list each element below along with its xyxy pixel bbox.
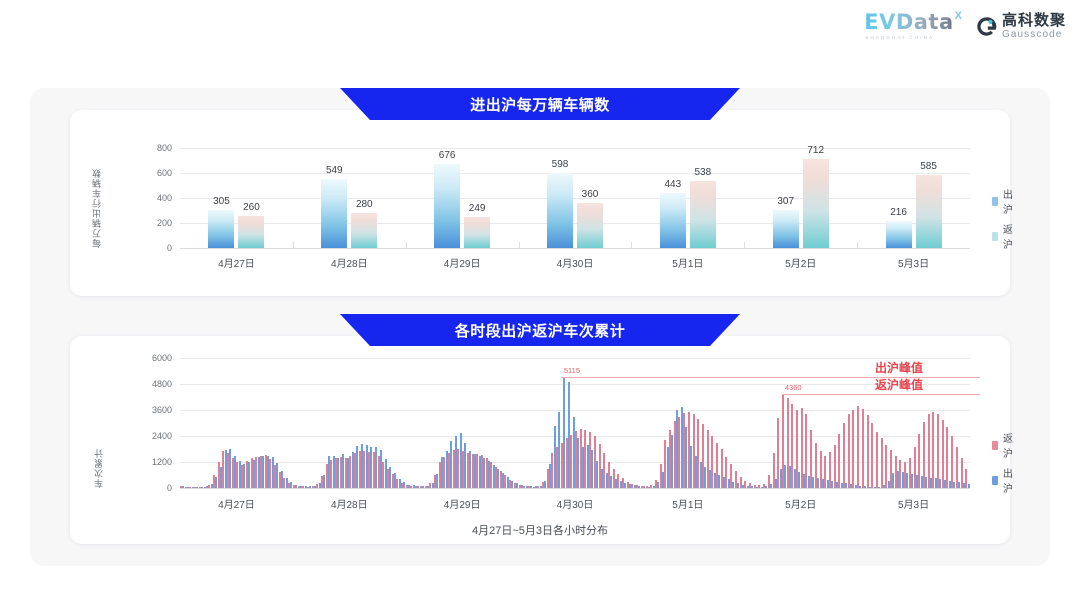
chart2-legend-item[interactable]: 返沪 — [992, 430, 1016, 460]
evdata-logo: EVData X SHANGHAI CHINA — [864, 12, 962, 40]
chart2-y-tick: 2400 — [136, 431, 172, 441]
chart2-peak-label: 出沪峰值 — [875, 359, 923, 376]
chart1-legend-item[interactable]: 出沪 — [992, 186, 1016, 216]
chart2-y-tick: 3600 — [136, 405, 172, 415]
chart1-y-tick: 600 — [138, 168, 172, 178]
dashboard-shell: 进出沪每万辆车辆数 每万辆出行车辆数 出沪返沪 0200400600800305… — [30, 88, 1050, 566]
chart1-y-tick: 0 — [138, 243, 172, 253]
chart1-legend-label: 出沪 — [1003, 186, 1016, 216]
chart2-gridline — [180, 488, 970, 489]
chart1-bar[interactable] — [238, 216, 264, 249]
chart2-bar-return[interactable] — [843, 423, 845, 488]
chart1-x-tick: 5月1日 — [648, 255, 728, 270]
chart2-bar-out[interactable] — [968, 484, 970, 488]
chart2-x-tick: 4月27日 — [196, 496, 276, 511]
chart1-bar-value: 676 — [425, 150, 469, 161]
chart2-x-tick: 5月2日 — [761, 496, 841, 511]
chart2-x-tick: 5月3日 — [874, 496, 954, 511]
chart1-x-tick: 4月27日 — [196, 255, 276, 270]
chart1-x-tick: 4月30日 — [535, 255, 615, 270]
chart1-bar[interactable] — [208, 210, 234, 248]
chart2-bar-return[interactable] — [876, 432, 878, 488]
chart1-bar[interactable] — [577, 203, 603, 248]
panel-2-title-banner: 各时段出沪返沪车次累计 — [340, 314, 740, 346]
chart2-legend-item[interactable]: 出沪 — [992, 465, 1016, 495]
chart2-bar-return[interactable] — [942, 420, 944, 488]
chart1-gridline — [180, 223, 970, 224]
chart2-legend-label: 返沪 — [1003, 430, 1016, 460]
gausscode-logo-en: Gausscode — [1002, 30, 1066, 40]
chart1-bar-value: 538 — [681, 167, 725, 178]
chart1-bar[interactable] — [321, 179, 347, 248]
chart1-bar-value: 307 — [764, 196, 808, 207]
chart2-bar-return[interactable] — [838, 434, 840, 488]
chart1-bar-value: 280 — [342, 199, 386, 210]
chart2-x-tick: 5月1日 — [648, 496, 728, 511]
chart2-legend: 返沪出沪 — [992, 430, 1016, 500]
chart2-bar-return[interactable] — [852, 410, 854, 488]
chart1-bar[interactable] — [660, 193, 686, 248]
chart1-bar[interactable] — [886, 221, 912, 248]
chart1-bar-value: 249 — [455, 203, 499, 214]
chart2-gridline — [180, 358, 970, 359]
chart1-bar[interactable] — [547, 173, 573, 248]
gausscode-mark-icon — [976, 16, 997, 37]
chart1-x-tick: 4月28日 — [309, 255, 389, 270]
chart2-bar-return[interactable] — [937, 414, 939, 488]
logo-group: EVData X SHANGHAI CHINA 高科数聚 Gausscode — [864, 12, 1066, 40]
chart2-bar-return[interactable] — [871, 423, 873, 488]
chart2-y-axis-label: 车次累计 — [92, 358, 105, 488]
chart1-category-tick — [519, 242, 520, 248]
chart1-y-axis-label: 每万辆出行车辆数 — [90, 152, 103, 248]
chart2-bar-return[interactable] — [867, 415, 869, 488]
evdata-x-icon: X — [955, 10, 962, 22]
chart1-y-tick: 400 — [138, 193, 172, 203]
chart1-bar-value: 598 — [538, 159, 582, 170]
chart1-gridline — [180, 148, 970, 149]
chart2-bar-return[interactable] — [946, 427, 948, 488]
panel-daily-vehicles: 每万辆出行车辆数 出沪返沪 02004006008003052604月27日54… — [70, 110, 1010, 296]
chart2-peak-line — [782, 394, 980, 395]
chart1-category-tick — [293, 242, 294, 248]
chart2-y-tick: 4800 — [136, 379, 172, 389]
chart2-gridline — [180, 384, 970, 385]
chart1-bar[interactable] — [464, 217, 490, 248]
chart2-x-tick: 4月28日 — [309, 496, 389, 511]
page-header: EVData X SHANGHAI CHINA 高科数聚 Gausscode — [0, 0, 1080, 62]
chart2-bar-return[interactable] — [932, 412, 934, 488]
chart1-gridline — [180, 248, 970, 249]
chart2-y-tick: 1200 — [136, 457, 172, 467]
chart1-category-tick — [631, 242, 632, 248]
evdata-logo-subtitle: SHANGHAI CHINA — [865, 35, 934, 40]
chart1-legend-swatch — [992, 197, 998, 206]
chart1-bar[interactable] — [690, 181, 716, 248]
chart2-legend-label: 出沪 — [1003, 465, 1016, 495]
chart1-x-tick: 4月29日 — [422, 255, 502, 270]
chart1-y-tick: 200 — [138, 218, 172, 228]
chart1-gridline — [180, 173, 970, 174]
chart1-legend-label: 返沪 — [1003, 221, 1016, 251]
chart1-category-tick — [857, 242, 858, 248]
chart1-bar-value: 360 — [568, 189, 612, 200]
chart2-bar-return[interactable] — [951, 436, 953, 488]
chart2-x-tick: 4月30日 — [535, 496, 615, 511]
chart1-bar-value: 549 — [312, 165, 356, 176]
gausscode-logo: 高科数聚 Gausscode — [976, 13, 1066, 40]
chart1-bar[interactable] — [351, 213, 377, 248]
chart1-bar-value: 585 — [907, 161, 951, 172]
chart1-bar[interactable] — [773, 210, 799, 248]
chart1-legend-item[interactable]: 返沪 — [992, 221, 1016, 251]
panel-1-title-banner: 进出沪每万辆车辆数 — [340, 88, 740, 120]
chart2-y-tick: 0 — [136, 483, 172, 493]
chart1-x-tick: 5月3日 — [874, 255, 954, 270]
chart1-y-tick: 800 — [138, 143, 172, 153]
chart1-legend-swatch — [992, 232, 998, 241]
chart2-peak-value: 5115 — [564, 366, 580, 375]
chart2-bar-return[interactable] — [862, 409, 864, 488]
chart1-legend: 出沪返沪 — [992, 186, 1016, 256]
chart1-x-tick: 5月2日 — [761, 255, 841, 270]
evdata-logo-text: EVData — [864, 12, 953, 33]
gausscode-logo-cn: 高科数聚 — [1002, 13, 1066, 28]
chart2-legend-swatch — [992, 441, 998, 450]
chart2-bar-return[interactable] — [848, 414, 850, 488]
chart1-bar-value: 712 — [794, 145, 838, 156]
chart2-bar-return[interactable] — [881, 438, 883, 488]
chart2-y-tick: 6000 — [136, 353, 172, 363]
chart1-bar-value: 443 — [651, 179, 695, 190]
chart2-x-tick: 4月29日 — [422, 496, 502, 511]
chart1-category-tick — [744, 242, 745, 248]
panel-hourly-trips: 车次累计 返沪出沪 4月27日~5月3日各小时分布 01200240036004… — [70, 336, 1010, 544]
chart2-subtitle: 4月27日~5月3日各小时分布 — [70, 522, 1010, 538]
chart1-bar-value: 216 — [877, 207, 921, 218]
chart2-legend-swatch — [992, 476, 998, 485]
chart2-peak-value: 4360 — [785, 383, 802, 392]
chart2-bar-return[interactable] — [857, 406, 859, 488]
chart1-category-tick — [406, 242, 407, 248]
chart1-bar-value: 260 — [229, 202, 273, 213]
chart2-peak-label: 返沪峰值 — [875, 376, 923, 393]
